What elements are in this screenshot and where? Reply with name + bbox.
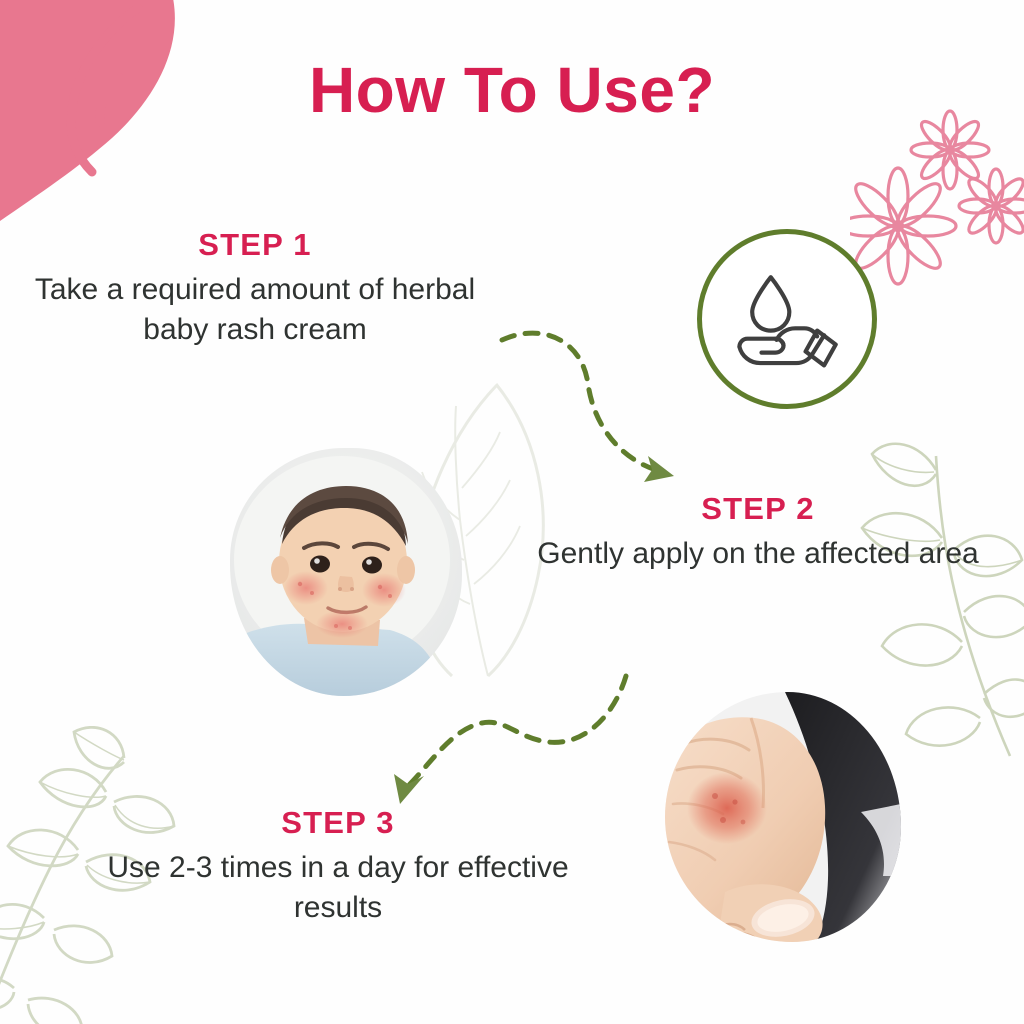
step-3-label: STEP 3 [78,806,598,840]
droplet-in-open-hand-icon [729,261,845,377]
hand-rash-illustration [665,692,901,942]
step-2-description: Gently apply on the affected area [498,534,1018,574]
baby-rash-illustration [230,448,462,696]
pink-daisy-flowers-decoration [850,104,1024,294]
step-3-description: Use 2-3 times in a day for effective res… [78,848,598,927]
step-1-label: STEP 1 [20,228,490,262]
step-3-block: STEP 3 Use 2-3 times in a day for effect… [78,806,598,927]
step-1-block: STEP 1 Take a required amount of herbal … [20,228,490,349]
step-1-description: Take a required amount of herbal baby ra… [20,270,490,349]
step-2-block: STEP 2 Gently apply on the affected area [498,492,1018,574]
dashed-curved-arrow-step1-to-step2 [470,318,700,508]
step-2-label: STEP 2 [498,492,1018,526]
cream-in-hand-icon-badge [697,229,877,409]
page-title: How To Use? [0,58,1024,122]
photo-baby-hand-with-red-rash [665,692,901,942]
photo-baby-with-cheek-rash [230,448,462,696]
infographic-canvas: How To Use? [0,0,1024,1024]
